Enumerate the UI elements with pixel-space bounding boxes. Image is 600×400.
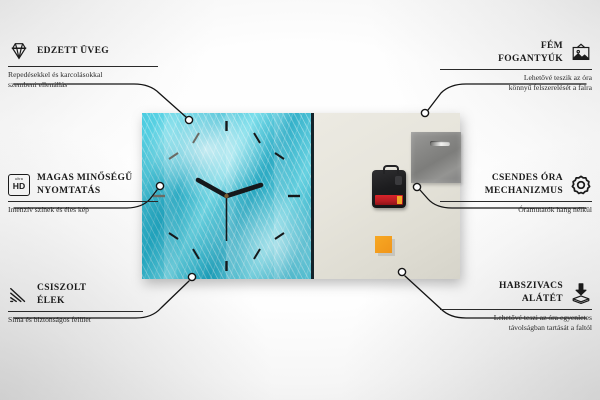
polished-edges-icon [8, 284, 30, 306]
feature-subtitle: Lehetővé teszi az óra egyenletes távolsá… [440, 313, 592, 333]
divider [8, 66, 158, 67]
feature-title: FÉMFOGANTYÚK [440, 40, 563, 65]
feature-header: EDZETT ÜVEG [8, 40, 158, 62]
divider [440, 309, 592, 310]
minute-hand [198, 180, 227, 196]
feature-title: CSENDES ÓRAMECHANIZMUS [440, 172, 563, 197]
feature-title: HABSZIVACSALÁTÉT [440, 280, 563, 305]
hanger-slot [430, 141, 450, 146]
feature-tempered-glass: EDZETT ÜVEG Repedésekkel és karcolásokka… [8, 40, 158, 90]
product-feature-infographic: EDZETT ÜVEG Repedésekkel és karcolásokka… [0, 0, 600, 400]
battery [375, 195, 403, 205]
divider [8, 311, 143, 312]
diamond-icon [8, 40, 30, 62]
divider [440, 69, 592, 70]
gear-icon [570, 174, 592, 196]
feature-polished-edges: CSISZOLTÉLEK Sima és biztonságos felület [8, 282, 143, 325]
clock-hands [198, 180, 261, 241]
ultra-hd-icon-main-text: HD [13, 182, 25, 191]
feature-title: EDZETT ÜVEG [37, 45, 158, 58]
hands-center-cap [224, 194, 228, 198]
feature-high-quality-print: ultra HD MAGAS MINŐSÉGŰNYOMTATÁS Intenzí… [8, 172, 158, 215]
feature-header: CSISZOLTÉLEK [8, 282, 143, 307]
feature-subtitle: Lehetővé teszik az óra könnyű felszerelé… [440, 73, 592, 93]
feature-title: MAGAS MINŐSÉGŰNYOMTATÁS [37, 172, 158, 197]
mechanism-hanger-loop [383, 165, 399, 174]
feature-subtitle: Intenzív színek és éles kép [8, 205, 158, 215]
picture-frame-hanger-icon [570, 42, 592, 64]
feature-header: CSENDES ÓRAMECHANIZMUS [440, 172, 592, 197]
product-image [142, 113, 460, 279]
ultra-hd-icon: ultra HD [8, 174, 30, 196]
divider [8, 201, 158, 202]
feature-foam-pad: HABSZIVACSALÁTÉT Lehetővé teszi az óra e… [440, 280, 592, 333]
feature-silent-mechanism: CSENDES ÓRAMECHANIZMUS Óramutatók hang n… [440, 172, 592, 215]
feature-header: FÉMFOGANTYÚK [440, 40, 592, 65]
feature-title: CSISZOLTÉLEK [37, 282, 143, 307]
divider [440, 201, 592, 202]
foam-pad-arrow-icon [570, 282, 592, 304]
foam-pad [375, 236, 392, 253]
clock-mechanism [372, 170, 406, 208]
hour-hand [227, 185, 262, 196]
feature-subtitle: Sima és biztonságos felület [8, 315, 143, 325]
feature-header: HABSZIVACSALÁTÉT [440, 280, 592, 305]
feature-metal-handles: FÉMFOGANTYÚK Lehetővé teszik az óra könn… [440, 40, 592, 93]
battery-terminal [397, 196, 402, 204]
feature-subtitle: Repedésekkel és karcolásokkal szembeni e… [8, 70, 158, 90]
feature-header: ultra HD MAGAS MINŐSÉGŰNYOMTATÁS [8, 172, 158, 197]
mechanism-knob [395, 176, 402, 185]
feature-subtitle: Óramutatók hang nélkül [440, 205, 592, 215]
